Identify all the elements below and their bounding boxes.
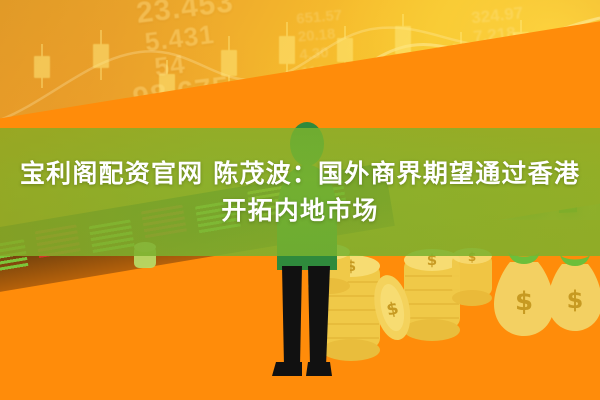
money-bag-icon: $ [494, 252, 554, 336]
money-bag-icon: $ [548, 255, 600, 331]
headline-block: 宝利阁配资官网 陈茂波：国外商界期望通过香港 开拓内地市场 [0, 128, 600, 256]
news-banner-image: 23.453 5.431 54 98.675 874.345 5.309 2.3… [0, 0, 600, 400]
svg-text:$: $ [567, 286, 584, 314]
coin-stack-icon: $ [404, 249, 460, 341]
headline-line-2: 开拓内地市场 [221, 195, 378, 226]
svg-text:$: $ [515, 287, 533, 317]
coin-stack-icon: $ [452, 248, 492, 306]
headline-line-1: 宝利阁配资官网 陈茂波：国外商界期望通过香港 [20, 158, 580, 189]
